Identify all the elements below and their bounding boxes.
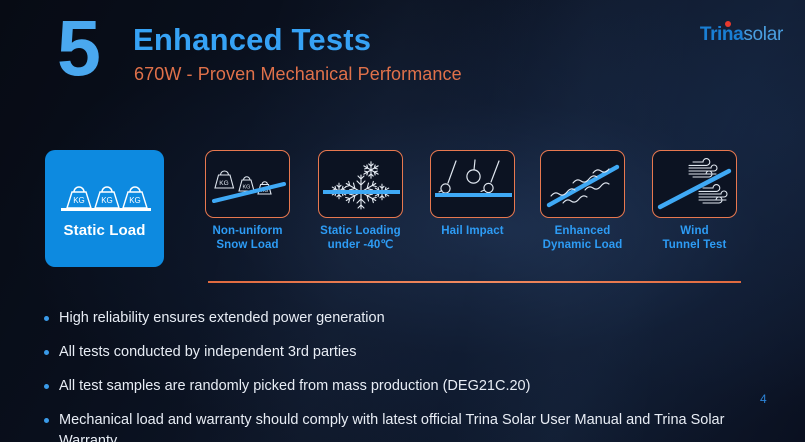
wind-tunnel-card-box [652, 150, 737, 218]
svg-text:KG: KG [243, 185, 251, 191]
bullet-text: High reliability ensures extended power … [59, 308, 385, 329]
label-line-2: under -40℃ [318, 239, 403, 253]
bullet-dot-icon [44, 350, 49, 355]
bullet-text: All test samples are randomly picked fro… [59, 376, 530, 397]
test-card-label-wind-tunnel: Wind Tunnel Test [652, 225, 737, 252]
logo-brand-bold-text: Trina [700, 24, 743, 45]
bullet-text: Mechanical load and warranty should comp… [59, 410, 774, 442]
logo-red-dot-icon [725, 21, 731, 27]
tilted-weights-icon: KG KG KG [206, 151, 290, 218]
non-uniform-snow-card-box: KG KG KG [205, 150, 290, 218]
enhanced-dynamic-card-box [540, 150, 625, 218]
list-item: All tests conducted by independent 3rd p… [44, 342, 774, 363]
test-card-label-non-uniform-snow: Non-uniform Snow Load [205, 225, 290, 252]
hail-impact-card-box [430, 150, 515, 218]
label-line-1: Non-uniform [205, 225, 290, 239]
bullet-list: High reliability ensures extended power … [44, 308, 774, 442]
weights-on-panel-icon: KG KG KG [45, 150, 164, 267]
test-card-label-static-load: Static Load [45, 222, 164, 239]
label-line-2: Snow Load [205, 239, 290, 253]
bullet-text: All tests conducted by independent 3rd p… [59, 342, 356, 363]
label-line-1: Wind [652, 225, 737, 239]
slide-number: 5 [57, 8, 99, 87]
hail-ball-icon [431, 151, 515, 218]
logo-brand-light: solar [743, 24, 783, 46]
dynamic-wave-panel-icon [541, 151, 625, 218]
test-card-non-uniform-snow[interactable]: KG KG KG Non-uniform Snow Load [205, 150, 290, 252]
test-cards-row: KG KG KG Static Load [0, 150, 805, 270]
test-card-wind-tunnel[interactable]: Wind Tunnel Test [652, 150, 737, 252]
test-card-hail-impact[interactable]: Hail Impact [430, 150, 515, 239]
label-line-1: Enhanced [540, 225, 625, 239]
static-load-card-box: KG KG KG [45, 150, 164, 267]
list-item: Mechanical load and warranty should comp… [44, 410, 774, 442]
svg-text:KG: KG [101, 196, 113, 205]
test-card-label-static-loading-cold: Static Loading under -40℃ [318, 225, 403, 252]
label-line-1: Static Loading [318, 225, 403, 239]
list-item: All test samples are randomly picked fro… [44, 376, 774, 397]
test-card-enhanced-dynamic[interactable]: Enhanced Dynamic Load [540, 150, 625, 252]
test-card-label-enhanced-dynamic: Enhanced Dynamic Load [540, 225, 625, 252]
slide-canvas: 5 Enhanced Tests 670W - Proven Mechanica… [0, 0, 805, 442]
page-subtitle: 670W - Proven Mechanical Performance [134, 63, 462, 85]
svg-text:KG: KG [73, 196, 85, 205]
wind-swirl-icon [653, 151, 737, 218]
bullet-dot-icon [44, 384, 49, 389]
label-line-2: Dynamic Load [540, 239, 625, 253]
test-card-static-loading-cold[interactable]: Static Loading under -40℃ [318, 150, 403, 252]
svg-text:KG: KG [129, 196, 141, 205]
snowflake-icon [319, 151, 403, 218]
page-number: 4 [760, 392, 767, 406]
trina-solar-logo: Trina solar [700, 24, 783, 46]
svg-text:KG: KG [219, 180, 228, 187]
static-loading-cold-card-box [318, 150, 403, 218]
label-line-2: Tunnel Test [652, 239, 737, 253]
logo-brand-bold: Trina [700, 24, 743, 46]
page-title: Enhanced Tests [133, 23, 371, 57]
section-divider [208, 281, 741, 283]
test-card-static-load[interactable]: KG KG KG Static Load [45, 150, 164, 267]
list-item: High reliability ensures extended power … [44, 308, 774, 329]
test-card-label-hail-impact: Hail Impact [430, 225, 515, 239]
bullet-dot-icon [44, 316, 49, 321]
bullet-dot-icon [44, 418, 49, 423]
